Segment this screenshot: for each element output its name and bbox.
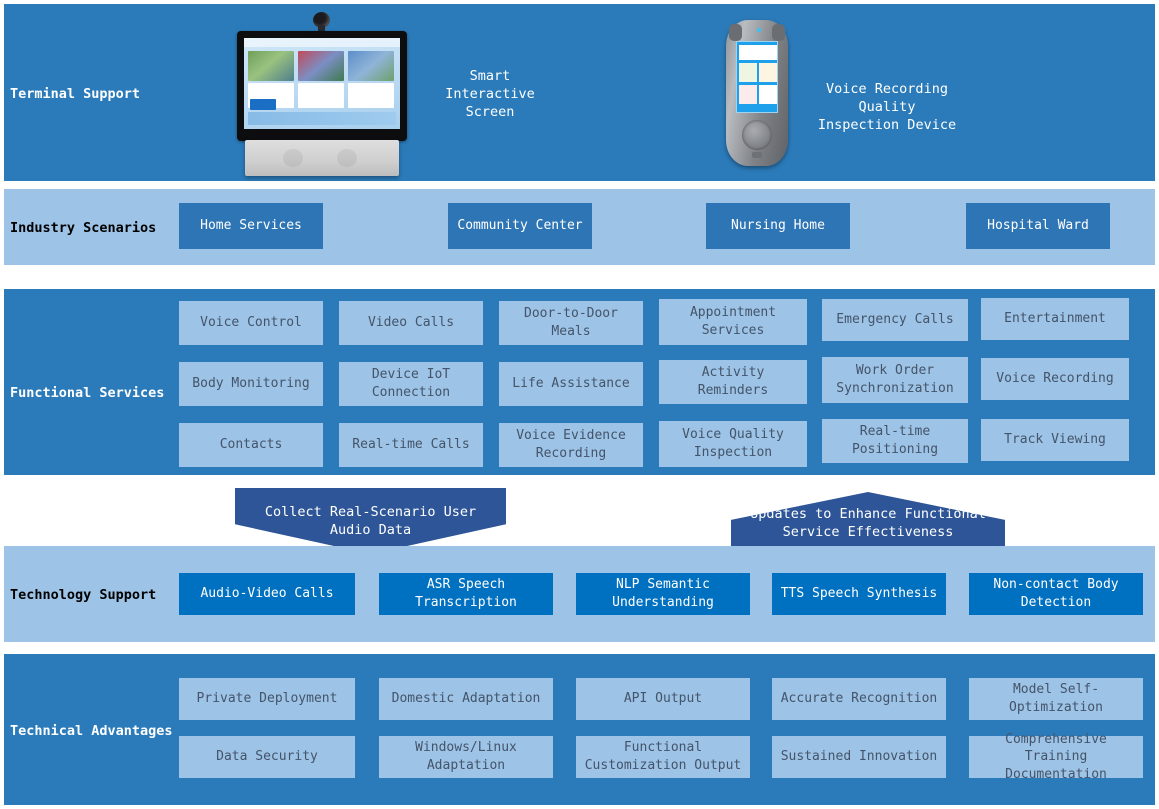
technical-advantages-label: Technical Advantages — [10, 723, 173, 739]
functional-item-work-order-synchronization[interactable]: Work Order Synchronization — [822, 357, 968, 403]
terminal-support-label: Terminal Support — [10, 86, 140, 102]
functional-item-voice-recording[interactable]: Voice Recording — [981, 358, 1129, 400]
recorder-shoulder-left — [729, 24, 742, 41]
collect-audio-data-arrow: Collect Real-Scenario User Audio Data — [235, 488, 506, 554]
screen-tile — [248, 51, 294, 81]
technology-item-non-contact-body-detection[interactable]: Non-contact Body Detection — [969, 573, 1143, 615]
technology-item-tts-speech-synthesis[interactable]: TTS Speech Synthesis — [772, 573, 946, 615]
industry-item-nursing-home[interactable]: Nursing Home — [706, 203, 850, 249]
screen-tile — [298, 51, 344, 81]
screen-glass — [244, 38, 400, 129]
advantage-item-comprehensive-training-documentation[interactable]: Comprehensive Training Documentation — [969, 736, 1143, 778]
advantage-item-windows-linux-adaptation[interactable]: Windows/Linux Adaptation — [379, 736, 553, 778]
functional-item-real-time-positioning[interactable]: Real-time Positioning — [822, 419, 968, 463]
screen-bezel — [237, 31, 407, 141]
screen-speaker-base — [245, 140, 399, 176]
advantage-item-private-deployment[interactable]: Private Deployment — [179, 678, 355, 720]
enhance-service-effectiveness-arrow-label: Updates to Enhance Functional Service Ef… — [741, 505, 995, 541]
technology-support-band: Technology Support Audio-Video Calls ASR… — [4, 546, 1155, 642]
recorder-shoulder-right — [772, 24, 785, 41]
speaker-grille — [337, 149, 357, 167]
recorder-banner — [739, 45, 777, 60]
functional-item-track-viewing[interactable]: Track Viewing — [981, 419, 1129, 461]
screen-topbar — [244, 38, 400, 47]
advantage-item-data-security[interactable]: Data Security — [179, 736, 355, 778]
terminal-support-band: Terminal Support — [4, 4, 1155, 181]
screen-tile — [348, 51, 394, 81]
collect-audio-data-arrow-label: Collect Real-Scenario User Audio Data — [245, 503, 496, 539]
functional-item-device-iot-connection[interactable]: Device IoT Connection — [339, 362, 483, 406]
voice-recorder-caption: Voice Recording Quality Inspection Devic… — [796, 80, 978, 135]
recorder-screen — [736, 41, 778, 113]
functional-item-body-monitoring[interactable]: Body Monitoring — [179, 362, 323, 406]
app-icon-blue — [759, 85, 777, 104]
app-icon-orange — [759, 63, 777, 82]
screen-button — [250, 99, 276, 110]
status-led-icon — [757, 28, 761, 32]
industry-item-community-center[interactable]: Community Center — [448, 203, 592, 249]
architecture-diagram: Terminal Support — [0, 0, 1159, 809]
recorder-microphone — [752, 152, 762, 158]
functional-item-voice-control[interactable]: Voice Control — [179, 301, 323, 345]
advantage-item-domestic-adaptation[interactable]: Domestic Adaptation — [379, 678, 553, 720]
functional-item-appointment-services[interactable]: Appointment Services — [659, 299, 807, 345]
industry-item-home-services[interactable]: Home Services — [179, 203, 323, 249]
advantage-item-model-self-optimization[interactable]: Model Self-Optimization — [969, 678, 1143, 720]
speaker-grille — [283, 149, 303, 167]
functional-item-voice-evidence-recording[interactable]: Voice Evidence Recording — [499, 423, 643, 467]
recorder-control-wheel — [742, 120, 772, 150]
advantage-item-sustained-innovation[interactable]: Sustained Innovation — [772, 736, 946, 778]
functional-item-video-calls[interactable]: Video Calls — [339, 301, 483, 345]
screen-bottom-strip — [248, 112, 396, 125]
app-icon-red — [739, 85, 757, 104]
screen-card — [348, 83, 394, 108]
app-icon-green — [739, 63, 757, 82]
advantage-item-functional-customization-output[interactable]: Functional Customization Output — [576, 736, 750, 778]
technology-item-nlp-semantic-understanding[interactable]: NLP Semantic Understanding — [576, 573, 750, 615]
functional-item-contacts[interactable]: Contacts — [179, 423, 323, 467]
functional-item-activity-reminders[interactable]: Activity Reminders — [659, 360, 807, 404]
functional-services-band: Functional Services Voice Control Video … — [4, 289, 1155, 475]
technology-support-label: Technology Support — [10, 587, 156, 603]
functional-item-life-assistance[interactable]: Life Assistance — [499, 362, 643, 406]
smart-interactive-screen-illustration — [237, 12, 407, 178]
technology-item-asr-speech-transcription[interactable]: ASR Speech Transcription — [379, 573, 553, 615]
functional-services-label: Functional Services — [10, 385, 164, 401]
industry-item-hospital-ward[interactable]: Hospital Ward — [966, 203, 1110, 249]
functional-item-entertainment[interactable]: Entertainment — [981, 298, 1129, 340]
industry-scenarios-band: Industry Scenarios Home Services Communi… — [4, 189, 1155, 265]
enhance-service-effectiveness-arrow: Updates to Enhance Functional Service Ef… — [731, 492, 1005, 554]
advantage-item-api-output[interactable]: API Output — [576, 678, 750, 720]
technology-item-audio-video-calls[interactable]: Audio-Video Calls — [179, 573, 355, 615]
smart-interactive-screen-caption: Smart Interactive Screen — [436, 67, 544, 122]
recorder-body — [726, 20, 788, 166]
functional-item-voice-quality-inspection[interactable]: Voice Quality Inspection — [659, 421, 807, 467]
functional-item-real-time-calls[interactable]: Real-time Calls — [339, 423, 483, 467]
advantage-item-accurate-recognition[interactable]: Accurate Recognition — [772, 678, 946, 720]
technical-advantages-band: Technical Advantages Private Deployment … — [4, 654, 1155, 805]
industry-scenarios-label: Industry Scenarios — [10, 220, 156, 236]
screen-card — [298, 83, 344, 108]
voice-recorder-illustration — [726, 20, 788, 170]
functional-item-door-to-door-meals[interactable]: Door-to-Door Meals — [499, 301, 643, 345]
functional-item-emergency-calls[interactable]: Emergency Calls — [822, 299, 968, 341]
